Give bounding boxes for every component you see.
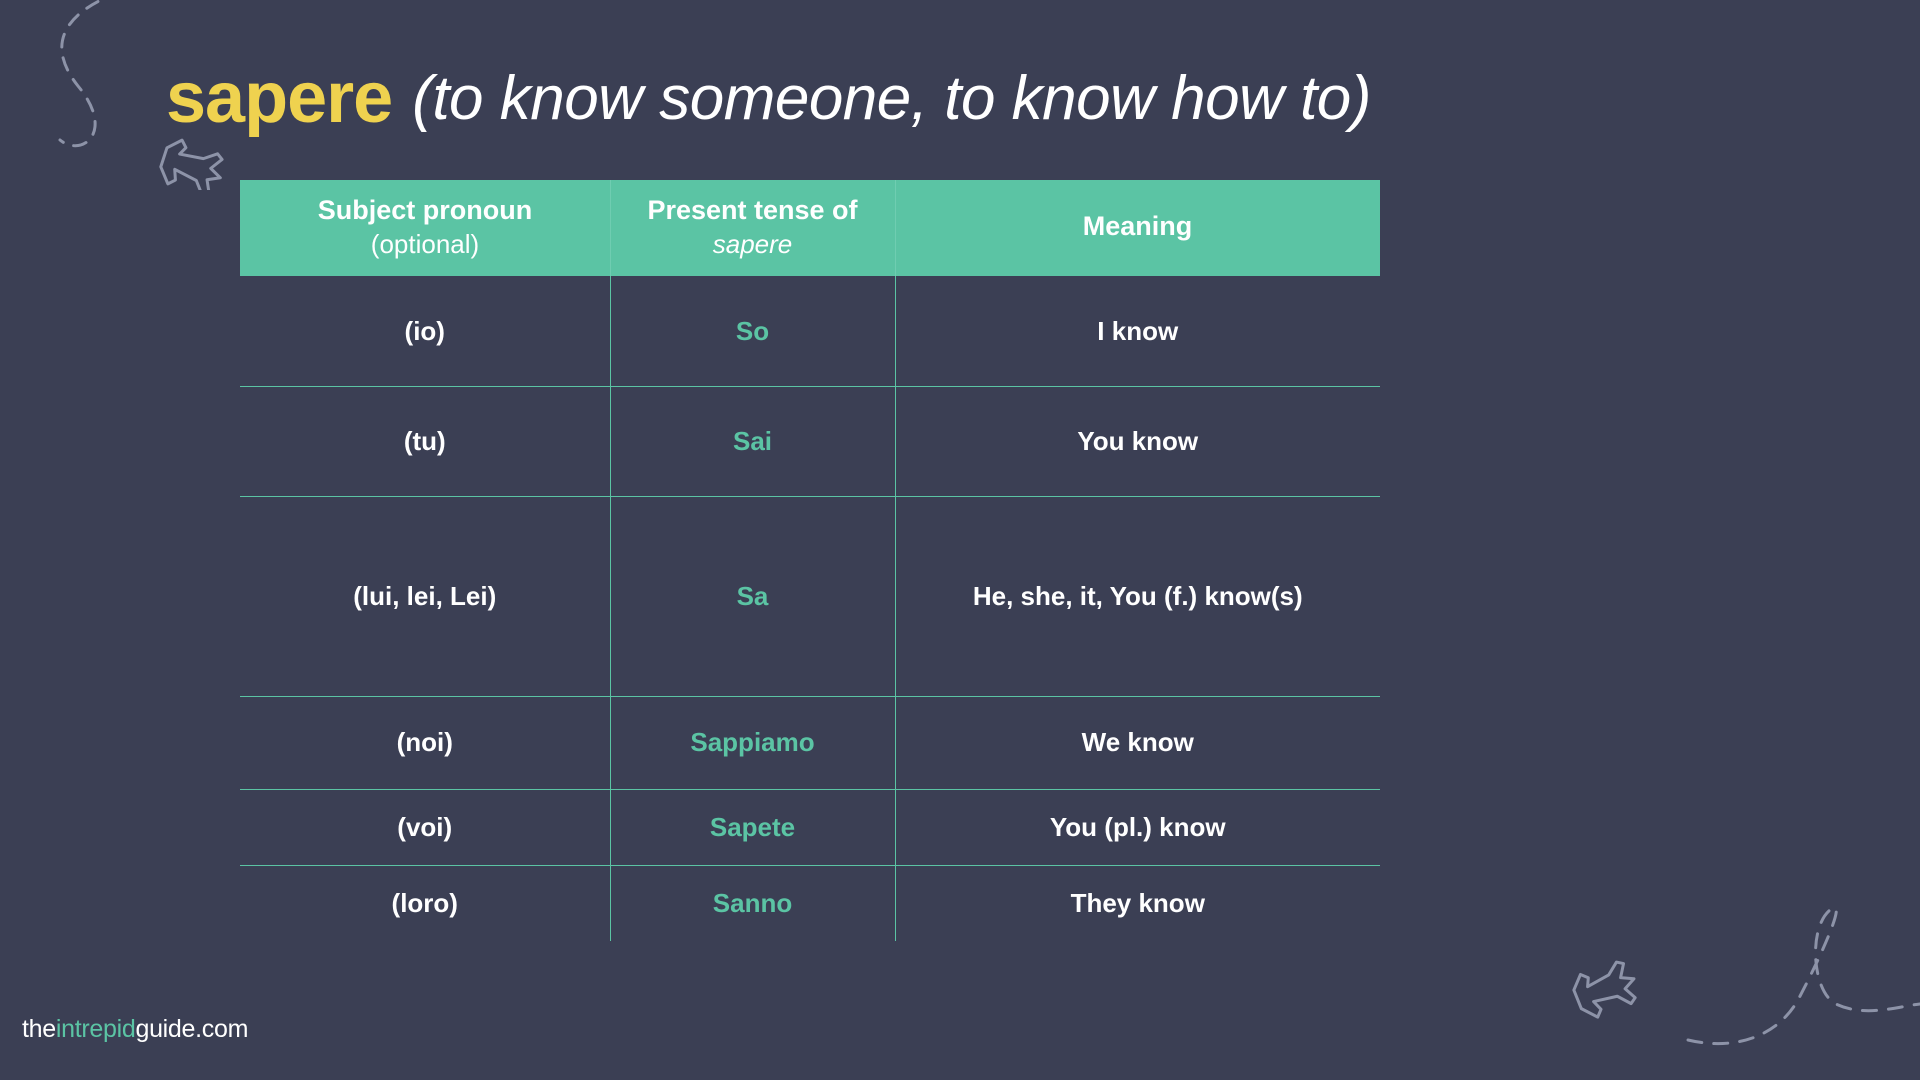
column-header-meaning: Meaning	[895, 180, 1380, 276]
page-title: sapere (to know someone, to know how to)	[166, 48, 1866, 148]
cell-pronoun: (voi)	[240, 789, 610, 865]
table-row: (tu) Sai You know	[240, 386, 1380, 496]
table-header-row: Subject pronoun (optional) Present tense…	[240, 180, 1380, 276]
cell-conjugation: Sapete	[610, 789, 895, 865]
column-header-meaning-main: Meaning	[1083, 211, 1193, 241]
cell-conjugation: So	[610, 276, 895, 386]
table-header: Subject pronoun (optional) Present tense…	[240, 180, 1380, 276]
column-header-present-tense-main: Present tense of	[647, 195, 857, 225]
conjugation-table: Subject pronoun (optional) Present tense…	[240, 180, 1380, 941]
table-body: (io) So I know (tu) Sai You know (lui, l…	[240, 276, 1380, 941]
cell-meaning: You (pl.) know	[895, 789, 1380, 865]
cell-pronoun: (noi)	[240, 696, 610, 789]
cell-pronoun: (loro)	[240, 865, 610, 941]
title-verb: sapere	[166, 57, 392, 139]
table-row: (voi) Sapete You (pl.) know	[240, 789, 1380, 865]
site-logo-part1: the	[22, 1015, 56, 1043]
column-header-subject-pronoun-sub: (optional)	[246, 228, 604, 261]
cell-conjugation: Sappiamo	[610, 696, 895, 789]
site-logo-part3: guide.com	[135, 1015, 248, 1043]
cell-conjugation: Sanno	[610, 865, 895, 941]
cell-meaning: We know	[895, 696, 1380, 789]
airplane-dashed-path-bottom-right-icon	[1530, 880, 1920, 1080]
cell-conjugation: Sai	[610, 386, 895, 496]
cell-conjugation: Sa	[610, 496, 895, 696]
site-logo: theintrepidguide.com	[22, 1015, 248, 1044]
column-header-present-tense: Present tense of sapere	[610, 180, 895, 276]
cell-pronoun: (lui, lei, Lei)	[240, 496, 610, 696]
cell-meaning: They know	[895, 865, 1380, 941]
slide-canvas: sapere (to know someone, to know how to)…	[0, 0, 1920, 1080]
table-row: (loro) Sanno They know	[240, 865, 1380, 941]
column-header-subject-pronoun: Subject pronoun (optional)	[240, 180, 610, 276]
cell-pronoun: (tu)	[240, 386, 610, 496]
table-row: (io) So I know	[240, 276, 1380, 386]
cell-meaning: He, she, it, You (f.) know(s)	[895, 496, 1380, 696]
column-header-subject-pronoun-main: Subject pronoun	[318, 195, 532, 225]
column-header-present-tense-verb: sapere	[616, 228, 889, 261]
cell-pronoun: (io)	[240, 276, 610, 386]
table-row: (lui, lei, Lei) Sa He, she, it, You (f.)…	[240, 496, 1380, 696]
site-logo-part2: intrepid	[56, 1015, 136, 1043]
title-translation: (to know someone, to know how to)	[412, 63, 1371, 134]
cell-meaning: I know	[895, 276, 1380, 386]
cell-meaning: You know	[895, 386, 1380, 496]
table-row: (noi) Sappiamo We know	[240, 696, 1380, 789]
